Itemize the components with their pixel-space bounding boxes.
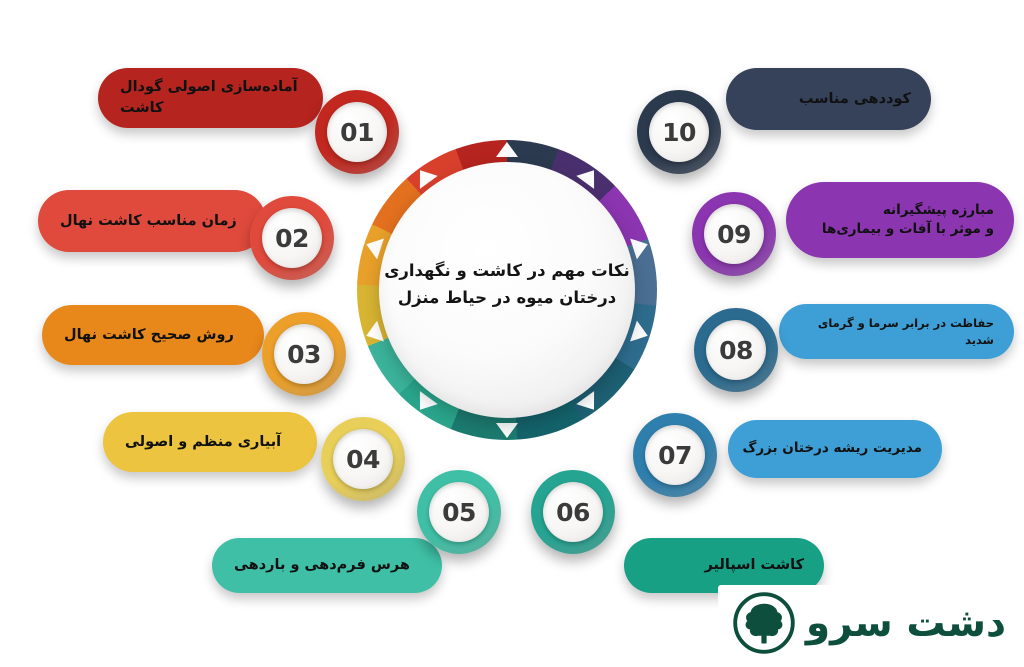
tree-in-circle-icon (732, 591, 796, 655)
step-badge-core-02: 02 (262, 208, 322, 268)
step-number-03: 03 (287, 340, 321, 369)
step-badge-core-10: 10 (649, 102, 709, 162)
item-label-pill-09[interactable]: مبارزه پیشگیرانهو موثر با آفات و بیماری‌… (786, 182, 1014, 258)
step-badge-core-04: 04 (333, 429, 393, 489)
item-label-text-03: روش صحیح کاشت نهال (42, 325, 264, 346)
step-badge-core-01: 01 (327, 102, 387, 162)
step-badge-07[interactable]: 07 (633, 413, 717, 497)
step-badge-core-07: 07 (645, 425, 705, 485)
item-label-pill-10[interactable]: کوددهی مناسب (726, 68, 931, 130)
item-label-text-07: مدیریت ریشه درختان بزرگ (728, 439, 942, 458)
item-label-text-10: کوددهی مناسب (726, 89, 931, 110)
item-label-pill-08[interactable]: حفاظت در برابر سرما و گرمای شدید (779, 304, 1014, 359)
item-label-text-02: زمان مناسب کاشت نهال (38, 211, 266, 232)
brand-name: دشت سرو (806, 604, 1006, 643)
page-title-line-1: نکات مهم در کاشت و نگهداری (384, 261, 630, 280)
page-title-line-2: درختان میوه در حیاط منزل (398, 288, 616, 307)
step-number-02: 02 (275, 224, 309, 253)
item-label-text-05: هرس فرم‌دهی و باردهی (212, 555, 442, 576)
step-badge-core-05: 05 (429, 482, 489, 542)
step-badge-core-06: 06 (543, 482, 603, 542)
step-badge-05[interactable]: 05 (417, 470, 501, 554)
step-number-10: 10 (662, 118, 696, 147)
item-label-pill-04[interactable]: آبیاری منظم و اصولی (103, 412, 317, 472)
step-number-08: 08 (719, 336, 753, 365)
step-badge-01[interactable]: 01 (315, 90, 399, 174)
item-label-text-09-line2: و موثر با آفات و بیماری‌ها (822, 221, 994, 237)
step-number-01: 01 (340, 118, 374, 147)
step-badge-08[interactable]: 08 (694, 308, 778, 392)
item-label-pill-02[interactable]: زمان مناسب کاشت نهال (38, 190, 266, 252)
infographic-canvas: نکات مهم در کاشت و نگهداری درختان میوه د… (0, 0, 1024, 667)
step-number-04: 04 (346, 445, 380, 474)
step-badge-core-08: 08 (706, 320, 766, 380)
step-number-09: 09 (717, 220, 751, 249)
step-badge-06[interactable]: 06 (531, 470, 615, 554)
step-badge-04[interactable]: 04 (321, 417, 405, 501)
item-label-text-08: حفاظت در برابر سرما و گرمای شدید (779, 315, 1014, 348)
item-label-text-04: آبیاری منظم و اصولی (103, 432, 317, 453)
step-badge-core-03: 03 (274, 324, 334, 384)
step-number-07: 07 (658, 441, 692, 470)
step-number-05: 05 (442, 498, 476, 527)
step-badge-core-09: 09 (704, 204, 764, 264)
center-wheel: نکات مهم در کاشت و نگهداری درختان میوه د… (357, 140, 657, 440)
item-label-pill-05[interactable]: هرس فرم‌دهی و باردهی (212, 538, 442, 593)
item-label-pill-03[interactable]: روش صحیح کاشت نهال (42, 305, 264, 365)
step-number-06: 06 (556, 498, 590, 527)
step-badge-10[interactable]: 10 (637, 90, 721, 174)
item-label-text-06: کاشت اسپالیر (624, 555, 824, 576)
brand-logo: دشت سرو (718, 585, 1016, 661)
item-label-pill-07[interactable]: مدیریت ریشه درختان بزرگ (728, 420, 942, 478)
step-badge-03[interactable]: 03 (262, 312, 346, 396)
step-badge-02[interactable]: 02 (250, 196, 334, 280)
item-label-text-01: آماده‌سازی اصولی گودال کاشت (98, 77, 323, 118)
item-label-text-09: مبارزه پیشگیرانهو موثر با آفات و بیماری‌… (786, 201, 1014, 239)
page-title: نکات مهم در کاشت و نگهداری درختان میوه د… (357, 258, 657, 311)
item-label-pill-01[interactable]: آماده‌سازی اصولی گودال کاشت (98, 68, 323, 128)
step-badge-09[interactable]: 09 (692, 192, 776, 276)
